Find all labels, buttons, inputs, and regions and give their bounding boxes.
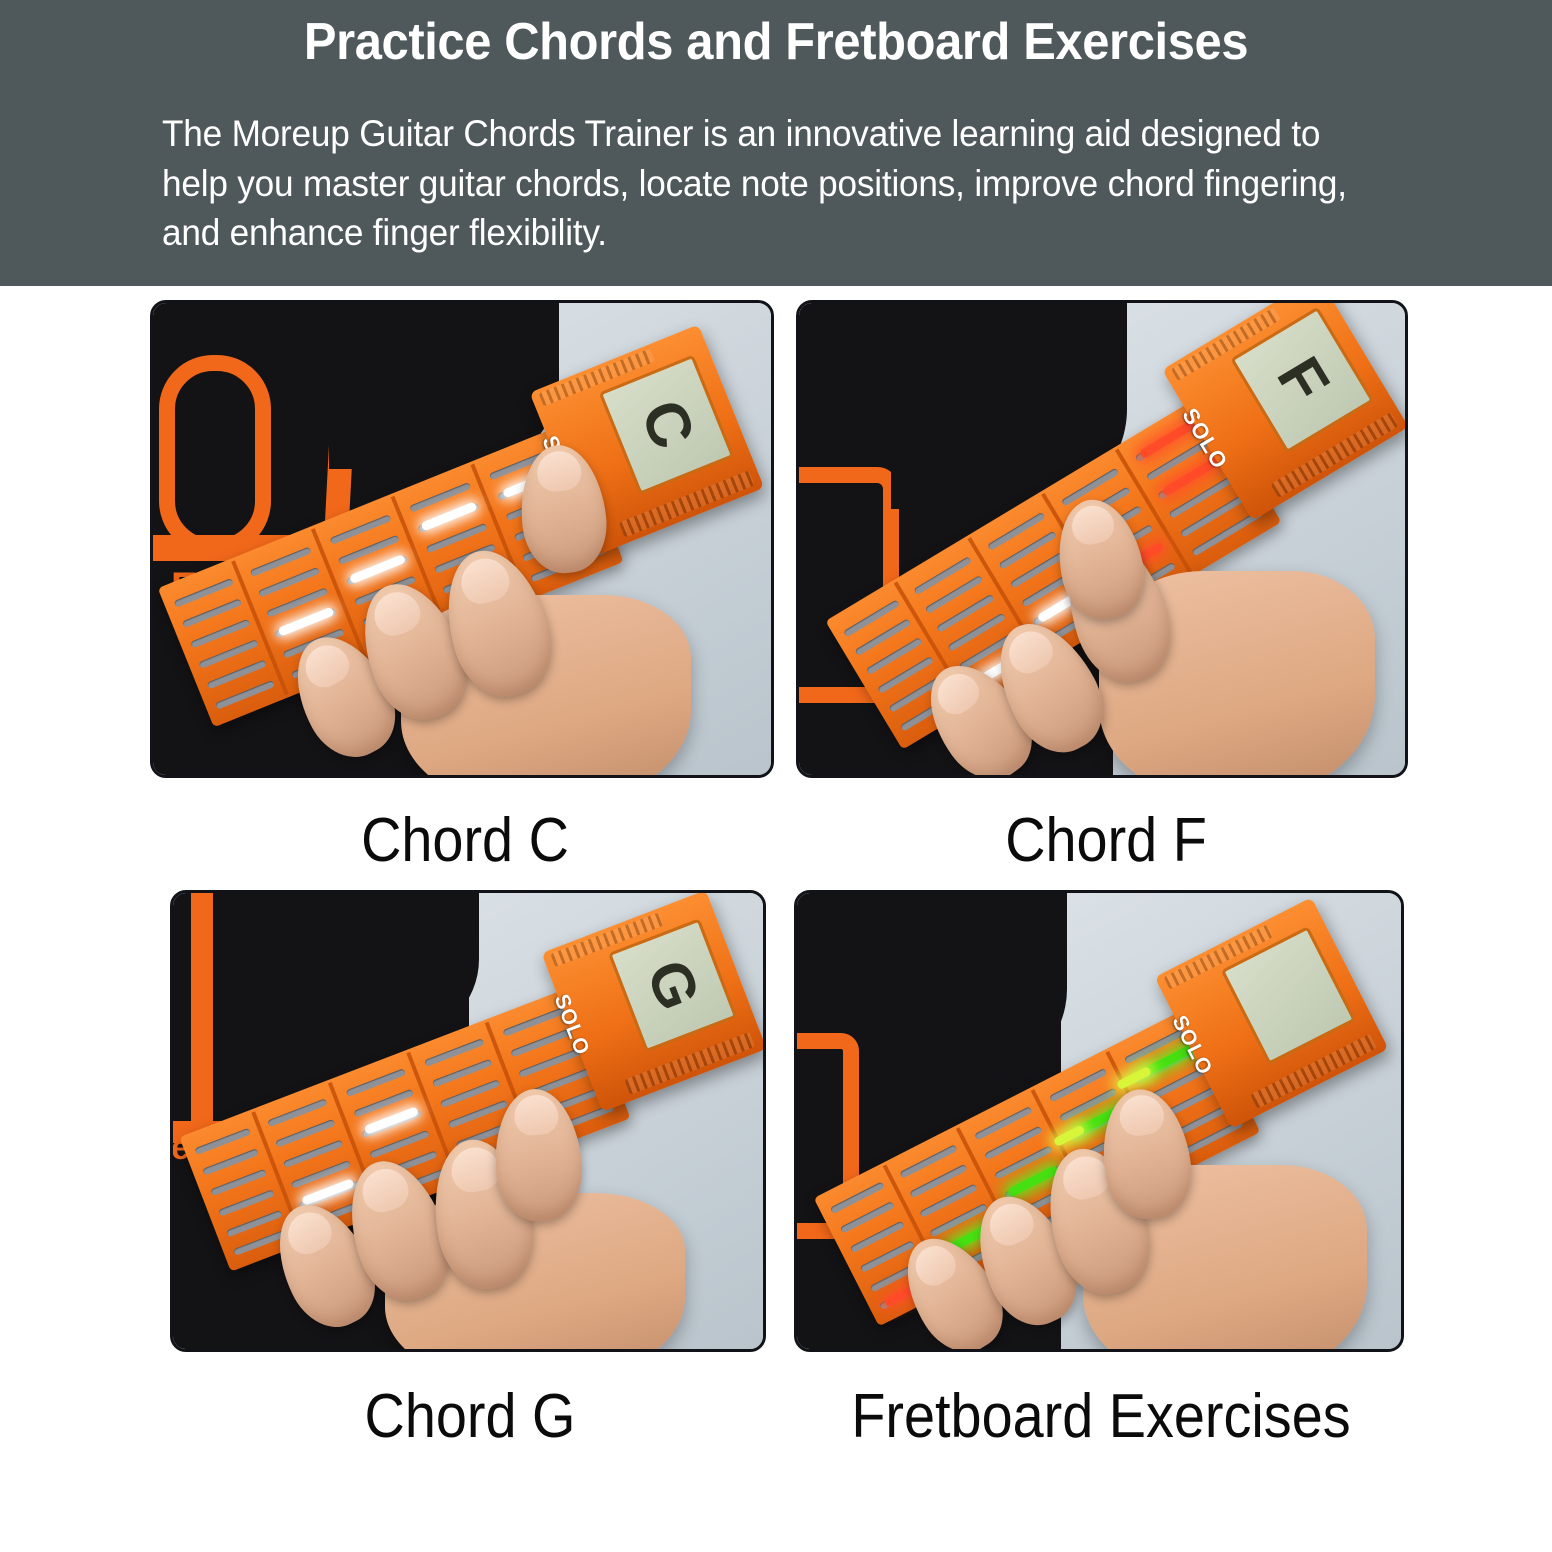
led-indicator xyxy=(277,607,334,637)
photo-chord-f: SOLO F xyxy=(796,300,1408,778)
fingernail xyxy=(1117,1092,1166,1138)
fingernail xyxy=(1068,502,1117,548)
caption-chord-g: Chord G xyxy=(200,1386,740,1448)
caption-chord-c: Chord C xyxy=(182,810,749,872)
photo-fretboard-exercises: SOLO xyxy=(794,890,1404,1352)
fingernail xyxy=(298,638,356,694)
fingernail xyxy=(281,1205,338,1260)
led-indicator xyxy=(420,501,477,531)
fingernail xyxy=(368,585,426,641)
panel-chord-c[interactable]: E 2012 xyxy=(150,300,780,872)
caption-chord-f: Chord F xyxy=(827,810,1385,872)
caption-fretboard-exercises: Fretboard Exercises xyxy=(825,1386,1378,1448)
lcd-chord-letter: F xyxy=(1266,348,1339,412)
header-description: The Moreup Guitar Chords Trainer is an i… xyxy=(162,109,1350,258)
panel-chord-f[interactable]: SOLO F Chord F xyxy=(796,300,1416,872)
panel-chord-g[interactable]: e xyxy=(170,890,770,1448)
lcd-chord-letter: G xyxy=(636,953,709,1018)
fingernail xyxy=(513,1094,560,1137)
photo-chord-g: e xyxy=(170,890,766,1352)
fingernail xyxy=(456,553,514,609)
led-indicator xyxy=(349,554,406,584)
fingernail xyxy=(908,1238,962,1291)
panel-grid: E 2012 xyxy=(0,286,1552,1552)
fingernail xyxy=(535,449,583,493)
page-title: Practice Chords and Fretboard Exercises xyxy=(47,14,1506,71)
fingernail xyxy=(448,1144,503,1196)
fingernail xyxy=(357,1163,414,1217)
header-banner: Practice Chords and Fretboard Exercises … xyxy=(0,0,1552,286)
lcd-chord-letter: C xyxy=(629,392,703,457)
fingernail xyxy=(983,1197,1039,1251)
panel-fretboard-exercises[interactable]: SOLO Fretboard Exercises xyxy=(794,890,1408,1448)
fingernail xyxy=(1001,624,1059,680)
fingernail xyxy=(929,666,985,721)
photo-chord-c: E 2012 xyxy=(150,300,774,778)
